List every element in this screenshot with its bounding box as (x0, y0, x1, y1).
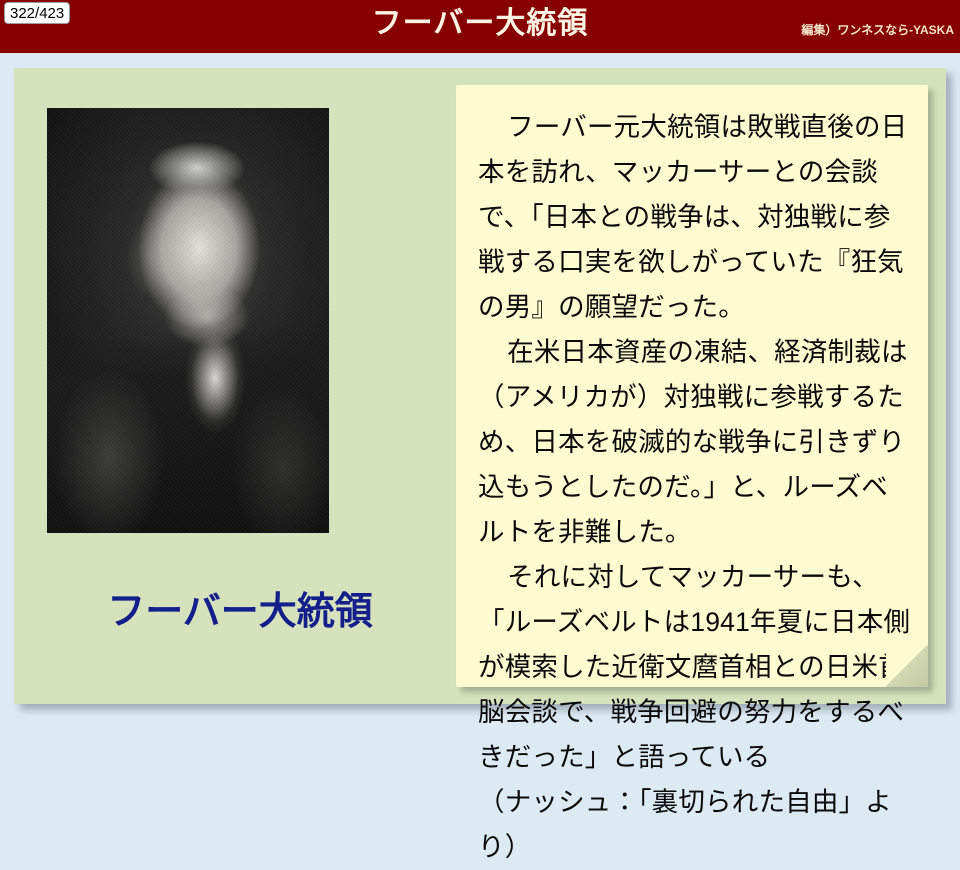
editor-credit: 編集）ワンネスなら-YASKA (801, 22, 954, 38)
text-note-card: フーバー元大統領は敗戦直後の日本を訪れ、マッカーサーとの会談で、「日本との戦争は… (456, 85, 928, 687)
portrait-photo-frame (47, 108, 329, 533)
slide-header-band: 322/423 フーバー大統領 編集）ワンネスなら-YASKA (0, 0, 960, 53)
note-source-citation: （ナッシュ：「裏切られた自由」より） (478, 780, 914, 870)
photo-caption: フーバー大統領 (30, 588, 450, 636)
note-text-body: フーバー元大統領は敗戦直後の日本を訪れ、マッカーサーとの会談で、「日本との戦争は… (478, 105, 914, 870)
presentation-slide: 322/423 フーバー大統領 編集）ワンネスなら-YASKA フーバー大統領 … (0, 0, 960, 720)
photo-grain-overlay (47, 108, 329, 533)
note-paragraph: 在米日本資産の凍結、経済制裁は（アメリカが）対独戦に参戦するため、日本を破滅的な… (478, 330, 914, 555)
content-panel: フーバー大統領 フーバー元大統領は敗戦直後の日本を訪れ、マッカーサーとの会談で、… (14, 68, 946, 704)
note-paragraph: フーバー元大統領は敗戦直後の日本を訪れ、マッカーサーとの会談で、「日本との戦争は… (478, 105, 914, 330)
page-curl-icon (886, 645, 928, 687)
note-paragraph: それに対してマッカーサーも、「ルーズベルトは1941年夏に日本側が模索した近衛文… (478, 555, 914, 780)
